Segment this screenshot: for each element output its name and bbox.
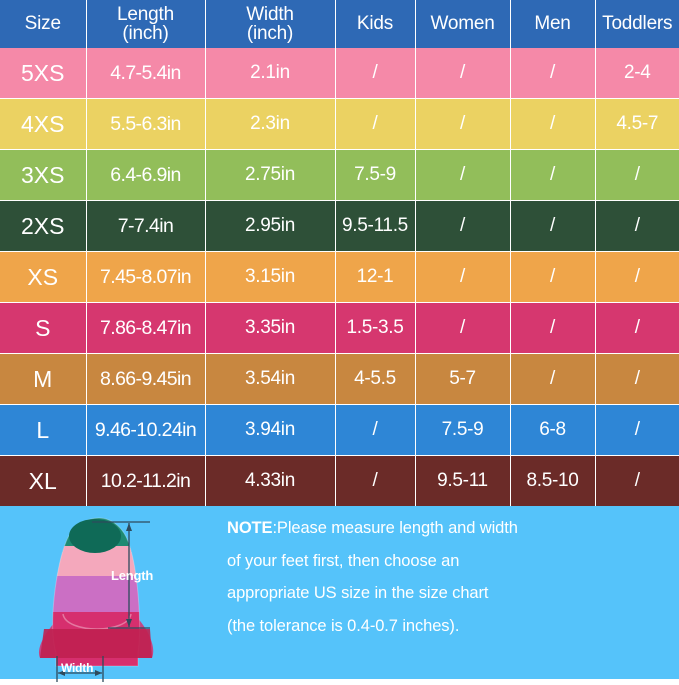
cell-width: 3.35in (205, 303, 335, 354)
fin-blade-lower (40, 629, 152, 658)
table-row: 2XS7-7.4in2.95in9.5-11.5/// (0, 201, 679, 252)
cell-women: / (415, 252, 510, 303)
table-row: XL10.2-11.2in4.33in/9.5-118.5-10/ (0, 456, 679, 507)
cell-men: / (510, 354, 595, 405)
cell-kids: 4-5.5 (335, 354, 415, 405)
cell-toddlers: / (595, 303, 679, 354)
cell-women: / (415, 48, 510, 99)
cell-length: 8.66-9.45in (86, 354, 205, 405)
column-header-size: Size (0, 0, 86, 48)
note-line-1: NOTE:Please measure length and width (227, 520, 667, 537)
column-header-size-label: Size (25, 13, 61, 34)
cell-length: 6.4-6.9in (86, 150, 205, 201)
note-line-2: of your feet first, then choose an (227, 553, 667, 570)
cell-toddlers: 4.5-7 (595, 99, 679, 150)
cell-kids: 9.5-11.5 (335, 201, 415, 252)
cell-width: 2.3in (205, 99, 335, 150)
cell-toddlers: / (595, 405, 679, 456)
cell-length: 7.45-8.07in (86, 252, 205, 303)
table-row: L9.46-10.24in3.94in/7.5-96-8/ (0, 405, 679, 456)
cell-length: 4.7-5.4in (86, 48, 205, 99)
cell-length: 10.2-11.2in (86, 456, 205, 507)
cell-width: 3.94in (205, 405, 335, 456)
fin-foot-opening (69, 519, 121, 553)
cell-men: / (510, 48, 595, 99)
cell-size: L (0, 405, 86, 456)
cell-men: / (510, 303, 595, 354)
cell-length: 7-7.4in (86, 201, 205, 252)
length-arrow-up (126, 523, 132, 531)
length-dimension-label: Length (111, 568, 153, 583)
cell-women: / (415, 150, 510, 201)
footer-note-panel: Length Width NOTE:Please measure length … (0, 506, 679, 679)
size-chart-table: Size Length (inch) Width (inch) Kids Wom… (0, 0, 679, 506)
table-body: 5XS4.7-5.4in2.1in///2-44XS5.5-6.3in2.3in… (0, 48, 679, 506)
table-row: XS7.45-8.07in3.15in12-1/// (0, 252, 679, 303)
table-row: M8.66-9.45in3.54in4-5.55-7// (0, 354, 679, 405)
column-header-toddlers-label: Toddlers (602, 13, 672, 34)
column-header-kids-label: Kids (357, 13, 393, 34)
header-row: Size Length (inch) Width (inch) Kids Wom… (0, 0, 679, 48)
cell-width: 3.54in (205, 354, 335, 405)
column-header-length: Length (inch) (86, 0, 205, 48)
cell-kids: / (335, 48, 415, 99)
table-row: 3XS6.4-6.9in2.75in7.5-9/// (0, 150, 679, 201)
fin-diagram: Length Width (0, 506, 215, 679)
cell-toddlers: / (595, 150, 679, 201)
cell-men: / (510, 99, 595, 150)
note-line-3: appropriate US size in the size chart (227, 585, 667, 602)
cell-size: 2XS (0, 201, 86, 252)
column-header-length-label: Length (117, 4, 174, 25)
table-row: 5XS4.7-5.4in2.1in///2-4 (0, 48, 679, 99)
column-header-men-label: Men (534, 13, 570, 34)
cell-width: 4.33in (205, 456, 335, 507)
column-header-toddlers: Toddlers (595, 0, 679, 48)
column-header-length-unit: (inch) (87, 24, 205, 43)
cell-women: 7.5-9 (415, 405, 510, 456)
cell-toddlers: 2-4 (595, 48, 679, 99)
cell-kids: / (335, 99, 415, 150)
cell-kids: 12-1 (335, 252, 415, 303)
cell-width: 2.95in (205, 201, 335, 252)
cell-length: 9.46-10.24in (86, 405, 205, 456)
cell-size: 5XS (0, 48, 86, 99)
cell-men: 6-8 (510, 405, 595, 456)
cell-men: / (510, 252, 595, 303)
cell-kids: 1.5-3.5 (335, 303, 415, 354)
width-dimension-label: Width (61, 661, 93, 675)
cell-men: 8.5-10 (510, 456, 595, 507)
cell-length: 7.86-8.47in (86, 303, 205, 354)
size-chart-page: Size Length (inch) Width (inch) Kids Wom… (0, 0, 679, 679)
cell-toddlers: / (595, 456, 679, 507)
cell-size: XS (0, 252, 86, 303)
width-arrow-right (95, 670, 102, 676)
cell-length: 5.5-6.3in (86, 99, 205, 150)
column-header-width-label: Width (246, 4, 294, 25)
cell-size: XL (0, 456, 86, 507)
cell-toddlers: / (595, 252, 679, 303)
cell-toddlers: / (595, 354, 679, 405)
note-label: NOTE (227, 519, 272, 537)
cell-toddlers: / (595, 201, 679, 252)
column-header-women-label: Women (430, 13, 494, 34)
cell-size: 4XS (0, 99, 86, 150)
cell-kids: 7.5-9 (335, 150, 415, 201)
column-header-women: Women (415, 0, 510, 48)
cell-women: / (415, 201, 510, 252)
note-text-panel: NOTE:Please measure length and width of … (215, 506, 679, 679)
cell-size: M (0, 354, 86, 405)
cell-women: 9.5-11 (415, 456, 510, 507)
column-header-width: Width (inch) (205, 0, 335, 48)
table-row: 4XS5.5-6.3in2.3in///4.5-7 (0, 99, 679, 150)
cell-men: / (510, 201, 595, 252)
cell-width: 2.1in (205, 48, 335, 99)
cell-women: / (415, 303, 510, 354)
cell-women: / (415, 99, 510, 150)
swim-fin-illustration (0, 506, 215, 685)
column-header-men: Men (510, 0, 595, 48)
cell-kids: / (335, 405, 415, 456)
cell-size: S (0, 303, 86, 354)
table-row: S7.86-8.47in3.35in1.5-3.5/// (0, 303, 679, 354)
table-header: Size Length (inch) Width (inch) Kids Wom… (0, 0, 679, 48)
cell-women: 5-7 (415, 354, 510, 405)
cell-width: 2.75in (205, 150, 335, 201)
note-line-4: (the tolerance is 0.4-0.7 inches). (227, 618, 667, 635)
cell-width: 3.15in (205, 252, 335, 303)
column-header-width-unit: (inch) (206, 24, 335, 43)
cell-size: 3XS (0, 150, 86, 201)
note-line-1-text: :Please measure length and width (272, 519, 517, 537)
cell-men: / (510, 150, 595, 201)
cell-kids: / (335, 456, 415, 507)
column-header-kids: Kids (335, 0, 415, 48)
